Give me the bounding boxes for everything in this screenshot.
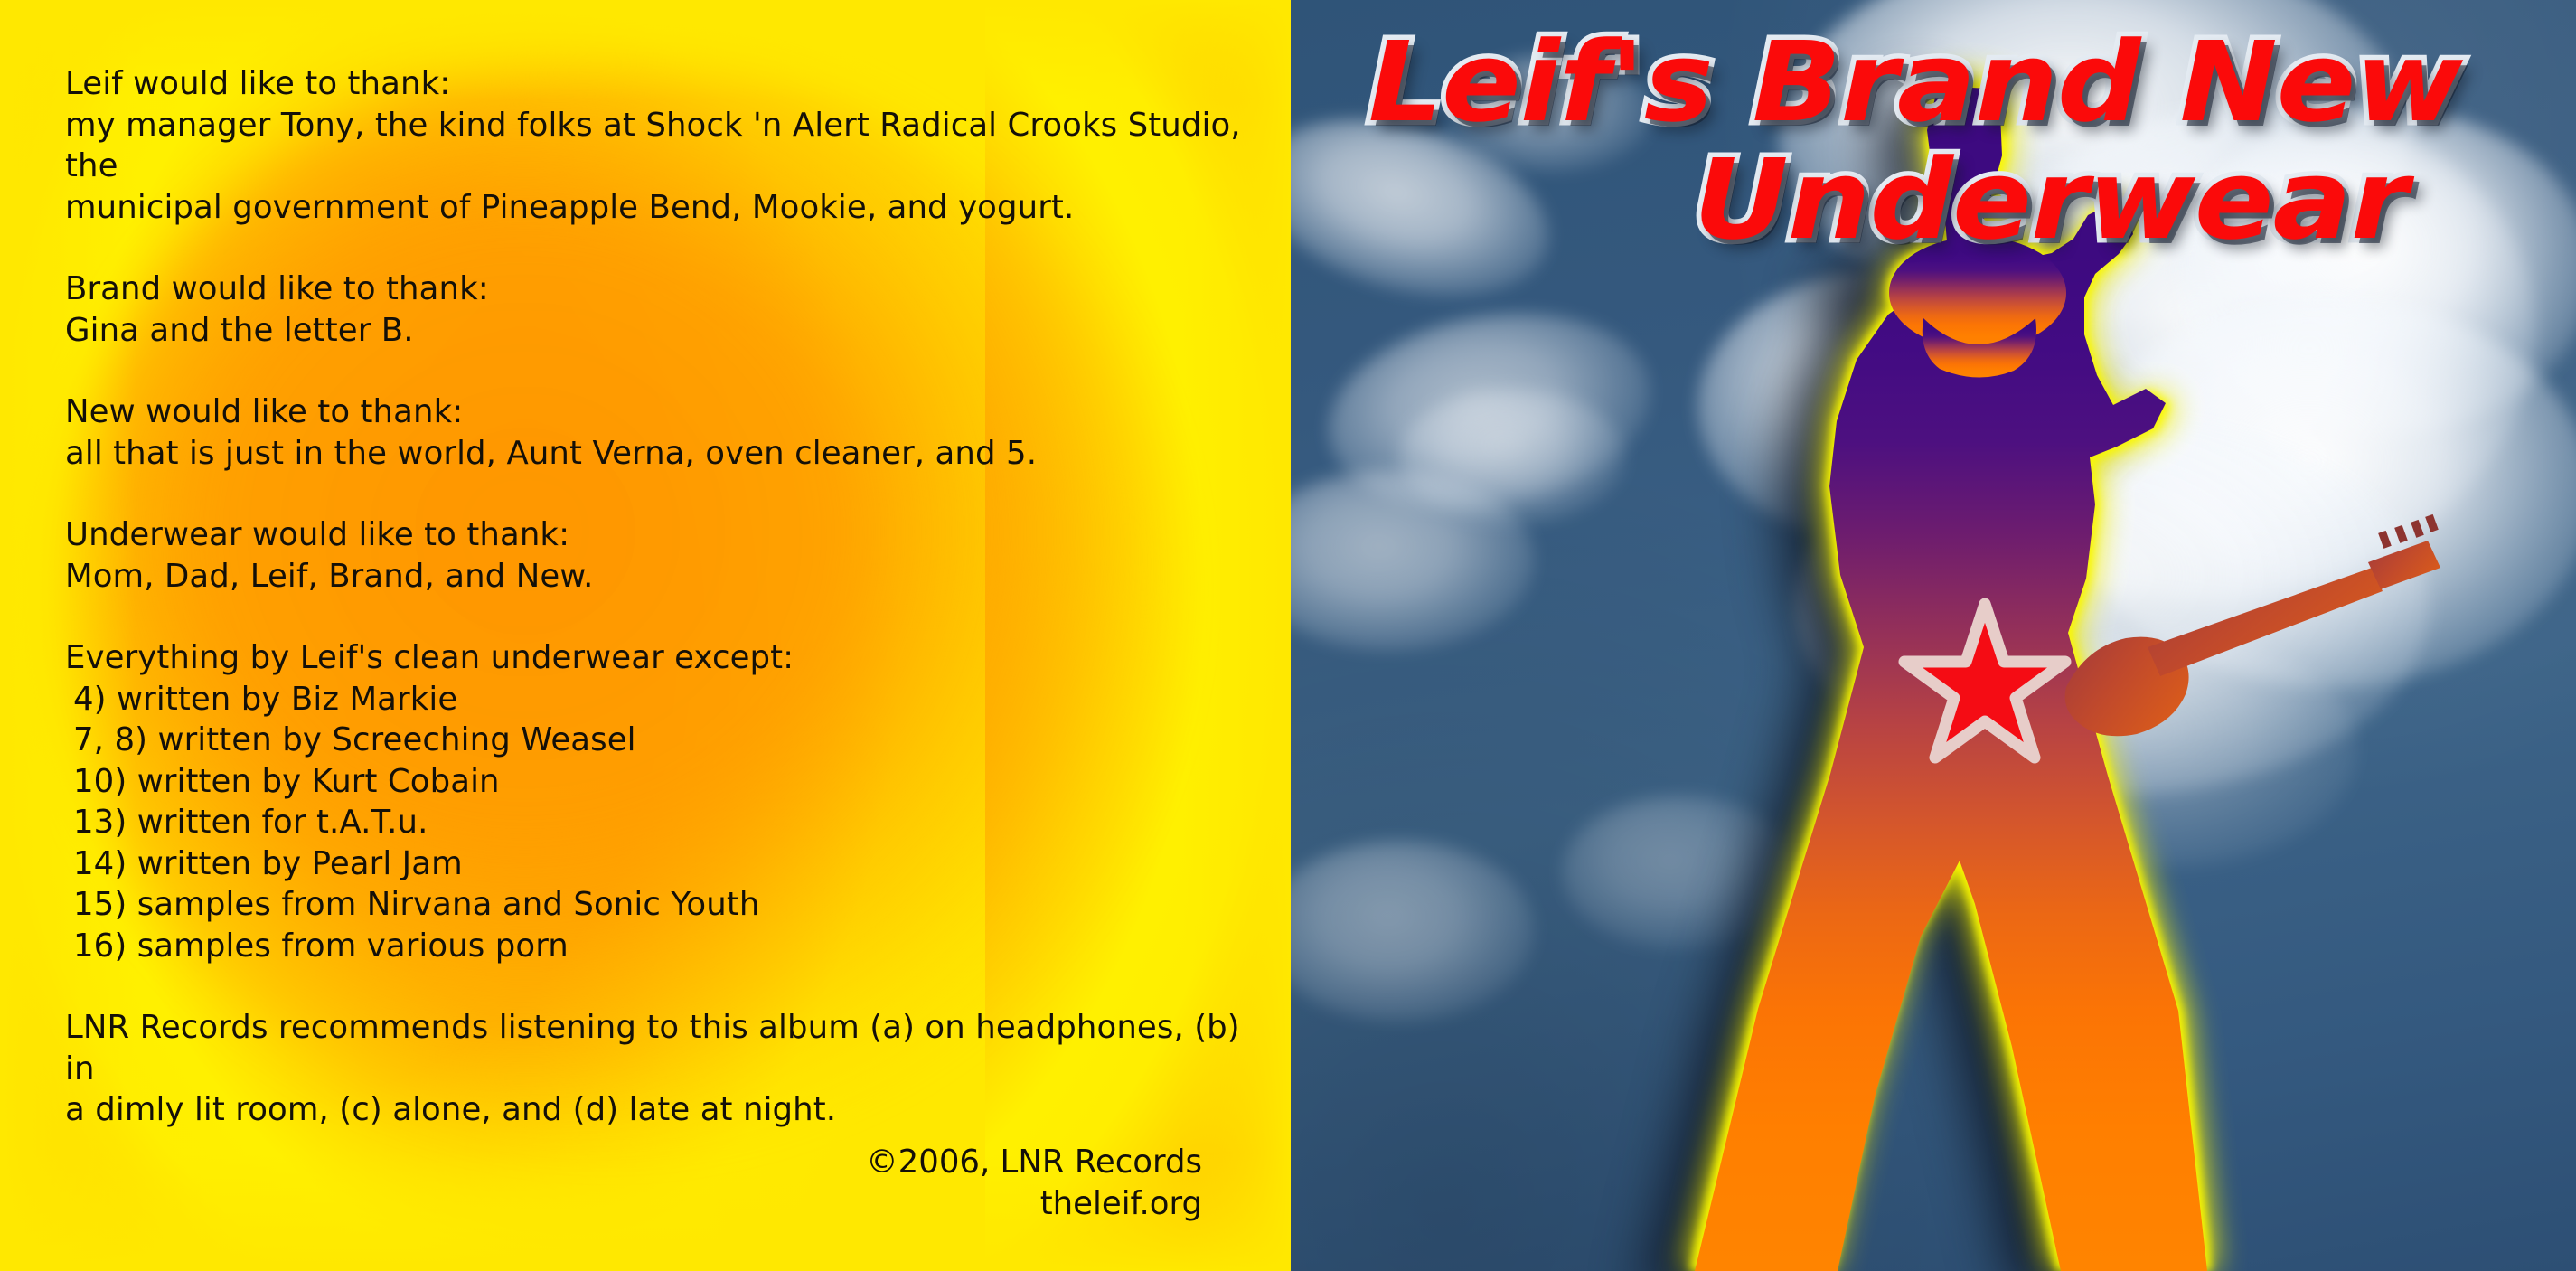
thanks-leif-line-2: my manager Tony, the kind folks at Shock… bbox=[65, 105, 1249, 187]
guitarist-artwork bbox=[1291, 0, 2576, 1271]
credits-heading: Everything by Leif's clean underwear exc… bbox=[65, 637, 1249, 679]
thanks-block-leif: Leif would like to thank: my manager Ton… bbox=[65, 63, 1249, 228]
website-url[interactable]: theleif.org bbox=[866, 1183, 1202, 1225]
recommendation-line-2: a dimly lit room, (c) alone, and (d) lat… bbox=[65, 1089, 1249, 1131]
thanks-underwear-line-2: Mom, Dad, Leif, Brand, and New. bbox=[65, 556, 1249, 598]
thanks-block-underwear: Underwear would like to thank: Mom, Dad,… bbox=[65, 514, 1249, 597]
thanks-underwear-line-1: Underwear would like to thank: bbox=[65, 514, 1249, 556]
back-cover-panel: Leif would like to thank: my manager Ton… bbox=[0, 0, 1291, 1271]
thanks-leif-line-3: municipal government of Pineapple Bend, … bbox=[65, 187, 1249, 229]
credit-item: 15) samples from Nirvana and Sonic Youth bbox=[65, 884, 1249, 926]
credit-item: 7, 8) written by Screeching Weasel bbox=[65, 720, 1249, 761]
thanks-brand-line-1: Brand would like to thank: bbox=[65, 268, 1249, 310]
credit-item: 13) written for t.A.T.u. bbox=[65, 802, 1249, 843]
songwriting-credits: Everything by Leif's clean underwear exc… bbox=[65, 637, 1249, 966]
listening-recommendation: LNR Records recommends listening to this… bbox=[65, 1007, 1249, 1131]
thanks-new-line-2: all that is just in the world, Aunt Vern… bbox=[65, 433, 1249, 475]
recommendation-line-1: LNR Records recommends listening to this… bbox=[65, 1007, 1249, 1089]
front-cover-panel: Leif's Brand New Underwear bbox=[1291, 0, 2576, 1271]
liner-notes: Leif would like to thank: my manager Ton… bbox=[65, 63, 1249, 1131]
credit-item: 14) written by Pearl Jam bbox=[65, 843, 1249, 885]
credit-item: 16) samples from various porn bbox=[65, 926, 1249, 967]
credit-item: 10) written by Kurt Cobain bbox=[65, 761, 1249, 803]
copyright-notice: ©2006, LNR Records bbox=[866, 1142, 1202, 1183]
thanks-leif-line-1: Leif would like to thank: bbox=[65, 63, 1249, 105]
thanks-brand-line-2: Gina and the letter B. bbox=[65, 310, 1249, 352]
thanks-block-new: New would like to thank: all that is jus… bbox=[65, 391, 1249, 474]
colophon: ©2006, LNR Records theleif.org bbox=[866, 1142, 1202, 1224]
thanks-new-line-1: New would like to thank: bbox=[65, 391, 1249, 433]
credit-item: 4) written by Biz Markie bbox=[65, 679, 1249, 720]
thanks-block-brand: Brand would like to thank: Gina and the … bbox=[65, 268, 1249, 351]
cd-booklet-spread: Leif would like to thank: my manager Ton… bbox=[0, 0, 2576, 1271]
red-star-icon bbox=[1291, 0, 2576, 1271]
